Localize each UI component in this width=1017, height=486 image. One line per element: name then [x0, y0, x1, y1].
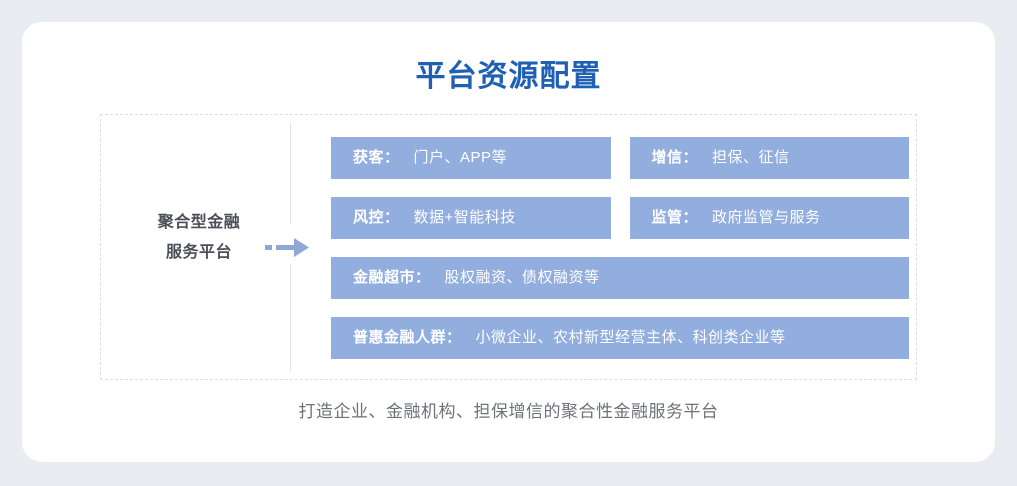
resource-item-label: 监管： — [652, 197, 699, 239]
resource-item-label: 获客： — [353, 137, 400, 179]
resource-item-value: 门户、APP等 — [414, 137, 508, 179]
page-title: 平台资源配置 — [22, 57, 995, 97]
resource-row: 风控： 数据+智能科技 监管： 政府监管与服务 — [331, 197, 909, 239]
resource-item-label: 风控： — [353, 197, 400, 239]
slide-card: 平台资源配置 聚合型金融 服务平台 获客： 门户、APP等 增信： — [22, 22, 995, 462]
platform-label: 聚合型金融 服务平台 — [129, 208, 269, 268]
arrow-right-icon — [265, 234, 317, 262]
resource-item-financial-supermarket[interactable]: 金融超市： 股权融资、债权融资等 — [331, 257, 909, 299]
resource-item-value: 政府监管与服务 — [712, 197, 821, 239]
resource-item-supervision[interactable]: 监管： 政府监管与服务 — [630, 197, 910, 239]
resource-row: 获客： 门户、APP等 增信： 担保、征信 — [331, 137, 909, 179]
resource-item-value: 小微企业、农村新型经营主体、科创类企业等 — [476, 317, 786, 359]
diagram-frame: 聚合型金融 服务平台 获客： 门户、APP等 增信： 担保、征信 — [100, 114, 917, 380]
resource-item-value: 担保、征信 — [712, 137, 790, 179]
resource-rows: 获客： 门户、APP等 增信： 担保、征信 风控： 数据+智能科技 监管： 政府… — [331, 137, 909, 359]
resource-item-value: 数据+智能科技 — [414, 197, 516, 239]
vertical-divider-bottom — [290, 265, 291, 371]
resource-item-acquisition[interactable]: 获客： 门户、APP等 — [331, 137, 611, 179]
resource-row: 普惠金融人群： 小微企业、农村新型经营主体、科创类企业等 — [331, 317, 909, 359]
resource-item-label: 金融超市： — [353, 257, 431, 299]
resource-item-label: 增信： — [652, 137, 699, 179]
resource-item-value: 股权融资、债权融资等 — [445, 257, 600, 299]
resource-item-risk-control[interactable]: 风控： 数据+智能科技 — [331, 197, 611, 239]
resource-item-inclusive-finance-group[interactable]: 普惠金融人群： 小微企业、农村新型经营主体、科创类企业等 — [331, 317, 909, 359]
vertical-divider-top — [290, 123, 291, 223]
platform-label-line1: 聚合型金融 — [129, 208, 269, 238]
platform-label-line2: 服务平台 — [129, 238, 269, 268]
footer-caption: 打造企业、金融机构、担保增信的聚合性金融服务平台 — [22, 397, 995, 422]
resource-item-credit-enhancement[interactable]: 增信： 担保、征信 — [630, 137, 910, 179]
resource-item-label: 普惠金融人群： — [353, 317, 462, 359]
resource-row: 金融超市： 股权融资、债权融资等 — [331, 257, 909, 299]
